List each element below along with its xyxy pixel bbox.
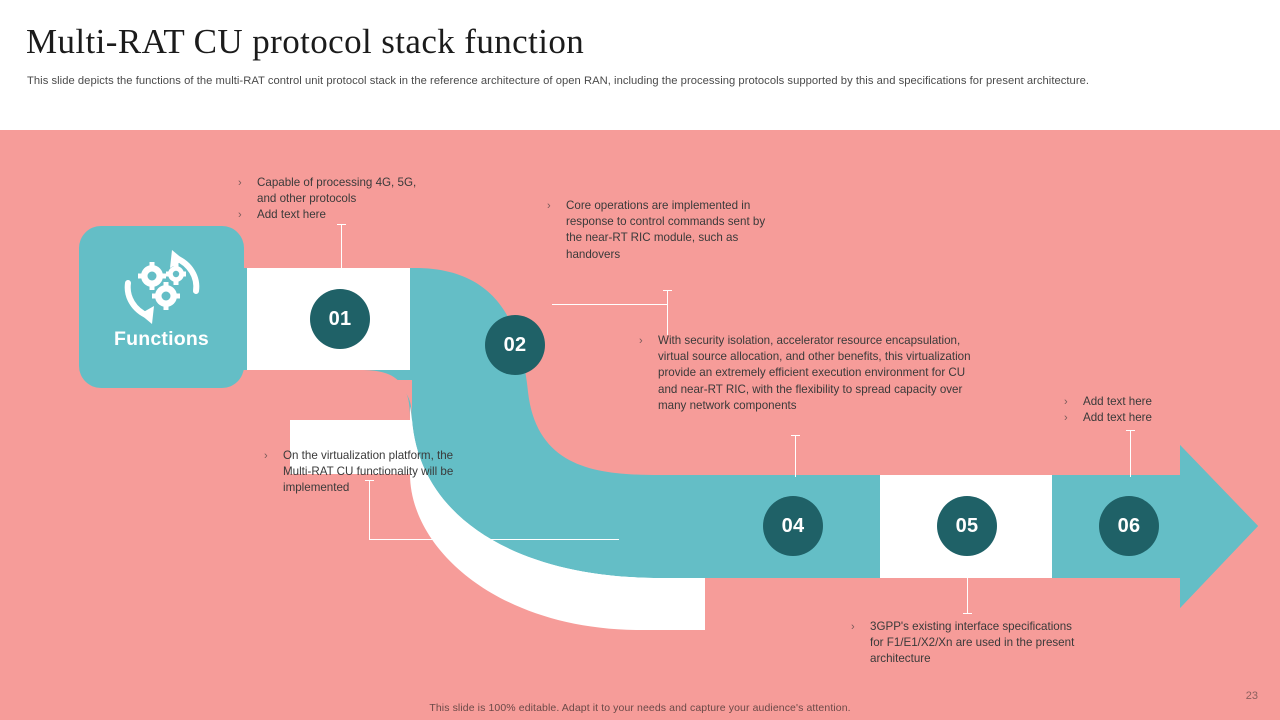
connector-04-hline bbox=[369, 539, 619, 540]
step-circle-01[interactable]: 01 bbox=[310, 289, 370, 349]
list-item: ›On the virtualization platform, the Mul… bbox=[264, 448, 479, 497]
diagram-canvas: Functions 01 02 04 05 06 bbox=[0, 130, 1280, 720]
callout-05-list: ›3GPP's existing interface specification… bbox=[851, 619, 1081, 668]
arrow-bottom bbox=[140, 306, 154, 324]
callout-01-list: ›Capable of processing 4G, 5G, and other… bbox=[238, 175, 438, 224]
callout-02-list: ›Core operations are implemented in resp… bbox=[547, 198, 773, 263]
chevron-right-icon: › bbox=[238, 207, 242, 223]
chevron-right-icon: › bbox=[639, 333, 643, 349]
list-item: ›Add text here bbox=[1064, 410, 1244, 426]
connector-02-hline bbox=[552, 304, 668, 305]
chevron-right-icon: › bbox=[851, 619, 855, 635]
connector-03-line bbox=[795, 435, 796, 477]
callout-03-list: ›With security isolation, accelerator re… bbox=[639, 333, 979, 414]
callout-06: ›Add text here ›Add text here bbox=[1064, 394, 1244, 426]
page-title: Multi-RAT CU protocol stack function bbox=[26, 22, 584, 62]
connector-01-line bbox=[341, 224, 342, 269]
functions-card[interactable]: Functions bbox=[79, 226, 244, 388]
list-item: ›Add text here bbox=[238, 207, 438, 223]
connector-05-line bbox=[967, 578, 968, 613]
callout-06-list: ›Add text here ›Add text here bbox=[1064, 394, 1244, 426]
connector-05-tick bbox=[963, 613, 972, 614]
list-item: ›Core operations are implemented in resp… bbox=[547, 198, 773, 263]
list-item: ›3GPP's existing interface specification… bbox=[851, 619, 1081, 668]
list-item: ›With security isolation, accelerator re… bbox=[639, 333, 979, 414]
functions-card-label: Functions bbox=[79, 328, 244, 351]
connector-02-vline bbox=[667, 290, 668, 335]
callout-04: ›On the virtualization platform, the Mul… bbox=[264, 448, 479, 497]
callout-03: ›With security isolation, accelerator re… bbox=[639, 333, 979, 414]
step-circle-04[interactable]: 04 bbox=[763, 496, 823, 556]
page-subtitle: This slide depicts the functions of the … bbox=[27, 75, 1207, 87]
page-number: 23 bbox=[1246, 690, 1258, 702]
chevron-right-icon: › bbox=[264, 448, 268, 464]
chevron-right-icon: › bbox=[238, 175, 242, 191]
connector-06-line bbox=[1130, 430, 1131, 477]
step-circle-06[interactable]: 06 bbox=[1099, 496, 1159, 556]
slide-header: Multi-RAT CU protocol stack function Thi… bbox=[0, 0, 1280, 130]
list-item: ›Add text here bbox=[1064, 394, 1244, 410]
arrowhead bbox=[1180, 445, 1258, 608]
chevron-right-icon: › bbox=[1064, 410, 1068, 426]
chevron-right-icon: › bbox=[547, 198, 551, 214]
list-item: ›Capable of processing 4G, 5G, and other… bbox=[238, 175, 438, 207]
step-circle-05[interactable]: 05 bbox=[937, 496, 997, 556]
callout-04-list: ›On the virtualization platform, the Mul… bbox=[264, 448, 479, 497]
step-circle-02[interactable]: 02 bbox=[485, 315, 545, 375]
chevron-right-icon: › bbox=[1064, 394, 1068, 410]
callout-02: ›Core operations are implemented in resp… bbox=[547, 198, 773, 263]
callout-01: ›Capable of processing 4G, 5G, and other… bbox=[238, 175, 438, 224]
footer-note: This slide is 100% editable. Adapt it to… bbox=[0, 702, 1280, 714]
slide: Multi-RAT CU protocol stack function Thi… bbox=[0, 0, 1280, 720]
callout-05: ›3GPP's existing interface specification… bbox=[851, 619, 1081, 668]
gears-cycle-icon bbox=[114, 244, 210, 330]
